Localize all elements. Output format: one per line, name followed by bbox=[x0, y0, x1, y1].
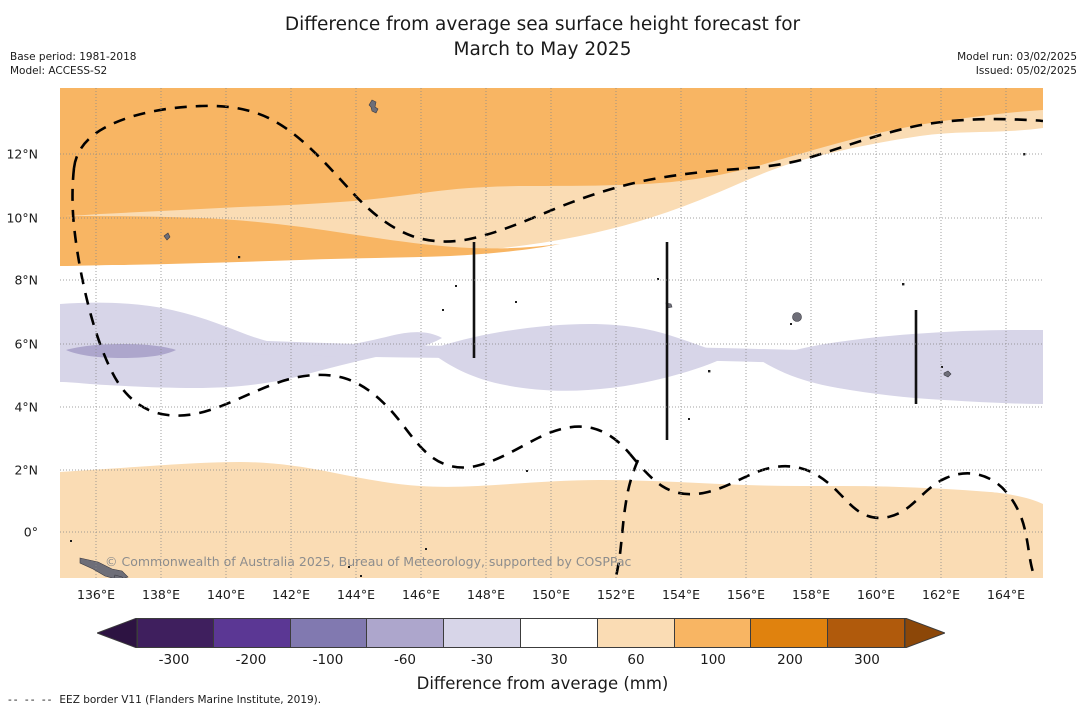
xtick-label-3: 142°E bbox=[272, 587, 310, 602]
xtick-label-10: 156°E bbox=[727, 587, 765, 602]
ytick-label-2: 8°N bbox=[14, 273, 38, 288]
ytick-label-1: 10°N bbox=[6, 211, 38, 226]
xtick-label-9: 154°E bbox=[662, 587, 700, 602]
eez-dash-sample: -- -- -- bbox=[8, 694, 53, 706]
colorbar-tick-1: -200 bbox=[236, 652, 267, 668]
colorbar-segment-2 bbox=[291, 618, 368, 648]
xtick-label-6: 148°E bbox=[467, 587, 505, 602]
issued-text: Issued: 05/02/2025 bbox=[957, 64, 1077, 78]
xtick-label-11: 158°E bbox=[792, 587, 830, 602]
colorbar-tick-2: -100 bbox=[313, 652, 344, 668]
ytick-label-5: 2°N bbox=[14, 463, 38, 478]
colorbar-tick-0: -300 bbox=[159, 652, 190, 668]
xtick-label-1: 138°E bbox=[142, 587, 180, 602]
page-title: Difference from average sea surface heig… bbox=[0, 12, 1085, 62]
xtick-label-13: 162°E bbox=[922, 587, 960, 602]
xtick-label-14: 164°E bbox=[987, 587, 1025, 602]
colorbar-segment-6 bbox=[598, 618, 675, 648]
colorbar-tick-3: -60 bbox=[394, 652, 416, 668]
ytick-label-3: 6°N bbox=[14, 337, 38, 352]
xtick-label-12: 160°E bbox=[857, 587, 895, 602]
colorbar-title: Difference from average (mm) bbox=[0, 674, 1085, 693]
xtick-label-0: 136°E bbox=[77, 587, 115, 602]
colorbar-tick-9: 300 bbox=[854, 652, 880, 668]
model-text: Model: ACCESS-S2 bbox=[10, 64, 136, 78]
colorbar-tick-7: 100 bbox=[700, 652, 726, 668]
colorbar-segment-3 bbox=[367, 618, 444, 648]
colorbar-segment-0 bbox=[137, 618, 214, 648]
sea-surface-height-forecast-map: Difference from average sea surface heig… bbox=[0, 0, 1085, 713]
ytick-label-4: 4°N bbox=[14, 400, 38, 415]
eez-legend-text: EEZ border V11 (Flanders Marine Institut… bbox=[59, 694, 321, 706]
ytick-label-6: 0° bbox=[24, 525, 38, 540]
colorbar-segment-7 bbox=[675, 618, 752, 648]
xtick-label-2: 140°E bbox=[207, 587, 245, 602]
xtick-label-4: 144°E bbox=[337, 587, 375, 602]
colorbar-under-arrow bbox=[97, 618, 137, 648]
contour-field bbox=[60, 88, 1043, 578]
colorbar-over-arrow bbox=[905, 618, 945, 648]
metadata-left: Base period: 1981-2018 Model: ACCESS-S2 bbox=[10, 50, 136, 78]
colorbar-tick-6: 60 bbox=[627, 652, 644, 668]
map-plot-area: © Commonwealth of Australia 2025, Bureau… bbox=[60, 88, 1043, 578]
base-period-text: Base period: 1981-2018 bbox=[10, 50, 136, 64]
colorbar-segment-9 bbox=[828, 618, 905, 648]
colorbar-segment-8 bbox=[751, 618, 828, 648]
colorbar-segment-4 bbox=[444, 618, 521, 648]
colorbar-segments bbox=[137, 618, 905, 648]
ytick-label-0: 12°N bbox=[6, 147, 38, 162]
xtick-label-8: 152°E bbox=[597, 587, 635, 602]
xtick-label-5: 146°E bbox=[402, 587, 440, 602]
metadata-right: Model run: 03/02/2025 Issued: 05/02/2025 bbox=[957, 50, 1077, 78]
colorbar-segment-1 bbox=[214, 618, 291, 648]
footer-legend: -- -- -- EEZ border V11 (Flanders Marine… bbox=[8, 694, 321, 706]
colorbar-tick-5: 30 bbox=[550, 652, 567, 668]
model-run-text: Model run: 03/02/2025 bbox=[957, 50, 1077, 64]
colorbar-tick-4: -30 bbox=[471, 652, 493, 668]
colorbar-tick-8: 200 bbox=[777, 652, 803, 668]
xtick-label-7: 150°E bbox=[532, 587, 570, 602]
colorbar-segment-5 bbox=[521, 618, 598, 648]
